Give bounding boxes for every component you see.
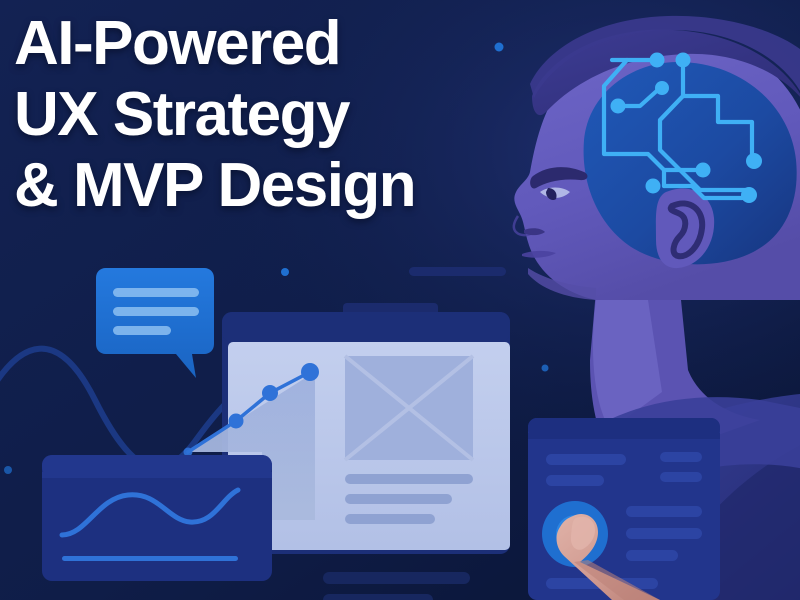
browser-header — [222, 312, 510, 342]
analytics-card[interactable] — [42, 455, 272, 581]
mobile-tap-panel[interactable] — [528, 418, 720, 600]
analytics-card-baseline — [62, 556, 238, 561]
image-placeholder-with-cross — [345, 356, 473, 460]
poster-canvas: AI-Powered UX Strategy & MVP Design — [0, 0, 800, 600]
illustration-layer — [0, 0, 800, 600]
